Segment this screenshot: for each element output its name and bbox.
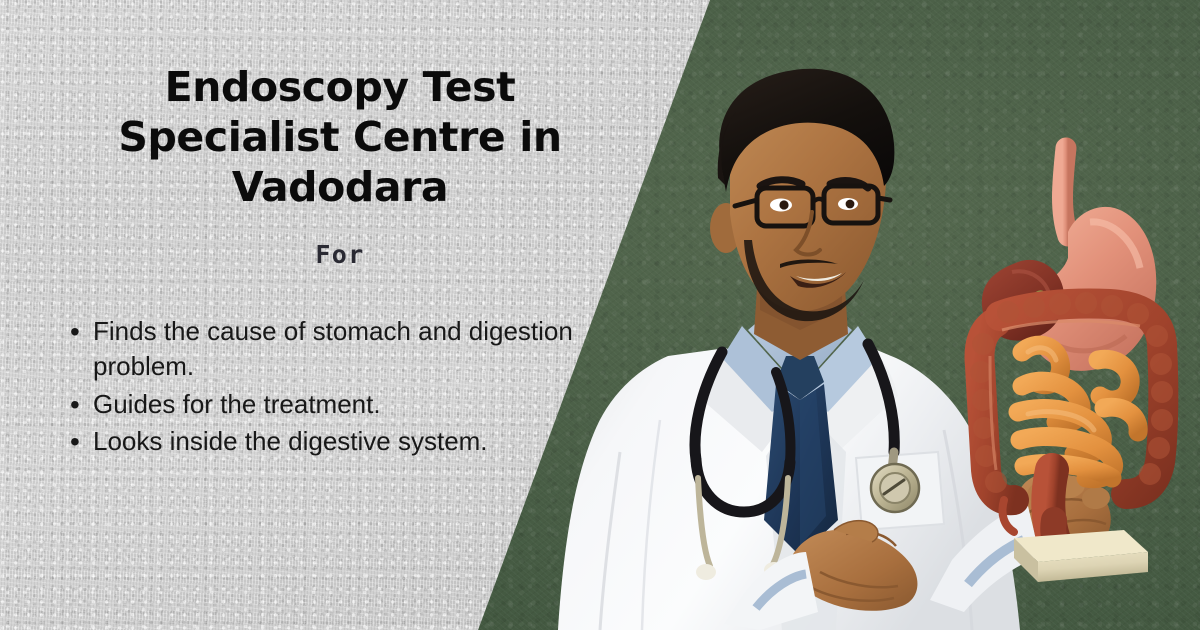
model-base-part	[1014, 530, 1148, 582]
text-content-pane: Endoscopy Test Specialist Centre in Vado…	[0, 0, 640, 630]
page-title: Endoscopy Test Specialist Centre in Vado…	[60, 62, 620, 212]
bullet-point-icon: •	[70, 424, 93, 459]
list-item: • Looks inside the digestive system.	[70, 424, 575, 459]
subheading-for: For	[60, 240, 620, 269]
bullet-point-icon: •	[70, 314, 93, 349]
banner-root: Endoscopy Test Specialist Centre in Vado…	[0, 0, 1200, 630]
list-item: • Finds the cause of stomach and digesti…	[70, 314, 575, 385]
list-item-label: Finds the cause of stomach and digestion…	[93, 314, 575, 385]
esophagus-part	[1063, 148, 1069, 236]
list-item-label: Looks inside the digestive system.	[93, 424, 575, 459]
list-item-label: Guides for the treatment.	[93, 387, 575, 422]
list-item: • Guides for the treatment.	[70, 387, 575, 422]
bullet-point-icon: •	[70, 387, 93, 422]
benefits-list: • Finds the cause of stomach and digesti…	[70, 314, 610, 459]
